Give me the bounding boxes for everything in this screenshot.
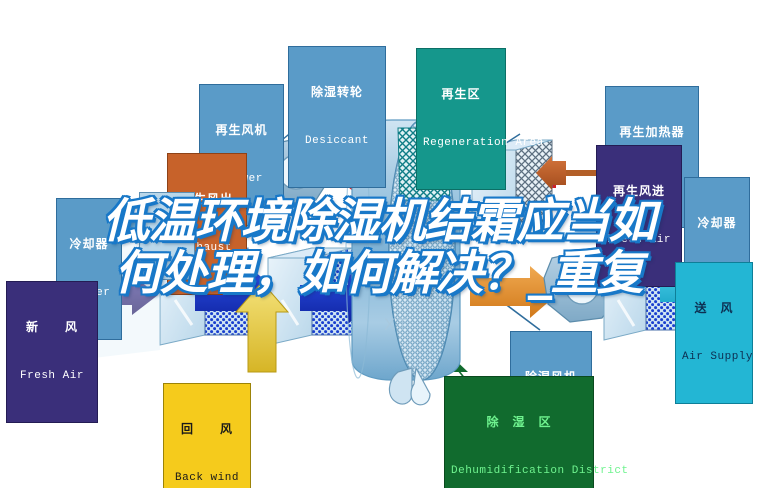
label-dehumidification-district[interactable]: 除 湿 区 Dehumidification District [444, 376, 594, 488]
label-regeneration-area[interactable]: 再生区 Regeneration Area [416, 48, 506, 190]
label-regen-blower-cn: 再生风机 [206, 124, 277, 137]
label-regeneration-area-cn: 再生区 [423, 88, 499, 101]
label-back-wind[interactable]: 回 风 Back wind [163, 383, 251, 488]
label-back-wind-cn: 回 风 [170, 423, 244, 436]
label-air-supply-cn: 送 风 [682, 302, 746, 315]
label-fresh-air-in-cn: 再生风进 [603, 185, 675, 198]
label-cooler-mid-cn: 冷却器 [144, 230, 190, 242]
label-air-supply-en: Air Supply [682, 351, 746, 363]
label-regen-heater-cn: 再生加热器 [612, 126, 692, 139]
label-desiccant-cn: 除湿转轮 [295, 86, 379, 99]
label-fresh-air-in[interactable]: 再生风进 Fresh Air [596, 145, 682, 287]
label-air-supply[interactable]: 送 风 Air Supply [675, 262, 753, 404]
label-cooler-left-cn: 冷却器 [63, 238, 115, 251]
label-fresh-air-en: Fresh Air [13, 370, 91, 382]
label-cooler-mid[interactable]: 冷却器 [139, 192, 195, 280]
label-dehum-district-en: Dehumidification District [451, 465, 587, 477]
label-desiccant-en: Desiccant [295, 135, 379, 147]
label-back-wind-en: Back wind [170, 472, 244, 484]
label-dehum-district-cn: 除 湿 区 [451, 416, 587, 429]
label-cooler-right-cn: 冷却器 [691, 217, 743, 230]
label-fresh-air[interactable]: 新 风 Fresh Air [6, 281, 98, 423]
label-regeneration-area-en: Regeneration Area [423, 137, 499, 149]
diagram-canvas: XT [0, 0, 757, 488]
svg-text:XT: XT [384, 315, 410, 334]
label-desiccant[interactable]: 除湿转轮 Desiccant [288, 46, 386, 188]
label-fresh-air-in-en: Fresh Air [603, 234, 675, 246]
label-fresh-air-cn: 新 风 [13, 321, 91, 334]
